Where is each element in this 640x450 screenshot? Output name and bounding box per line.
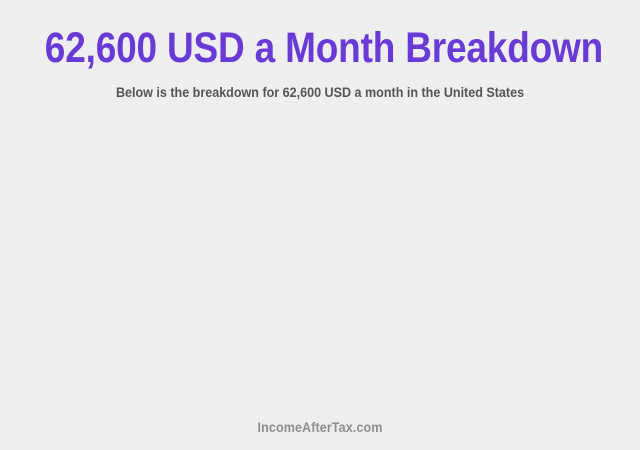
page-subtitle: Below is the breakdown for 62,600 USD a … xyxy=(22,84,617,102)
site-credit: IncomeAfterTax.com xyxy=(22,420,617,436)
chart-page: 62,600 USD a Month Breakdown Below is th… xyxy=(0,0,640,450)
chart-footer: IncomeAfterTax.com xyxy=(0,420,640,436)
chart-plot-area: Plot body is blank in this screenshot - … xyxy=(0,118,640,406)
chart-empty-placeholder: Plot body is blank in this screenshot - … xyxy=(0,118,640,406)
page-title: 62,600 USD a Month Breakdown xyxy=(45,22,595,74)
